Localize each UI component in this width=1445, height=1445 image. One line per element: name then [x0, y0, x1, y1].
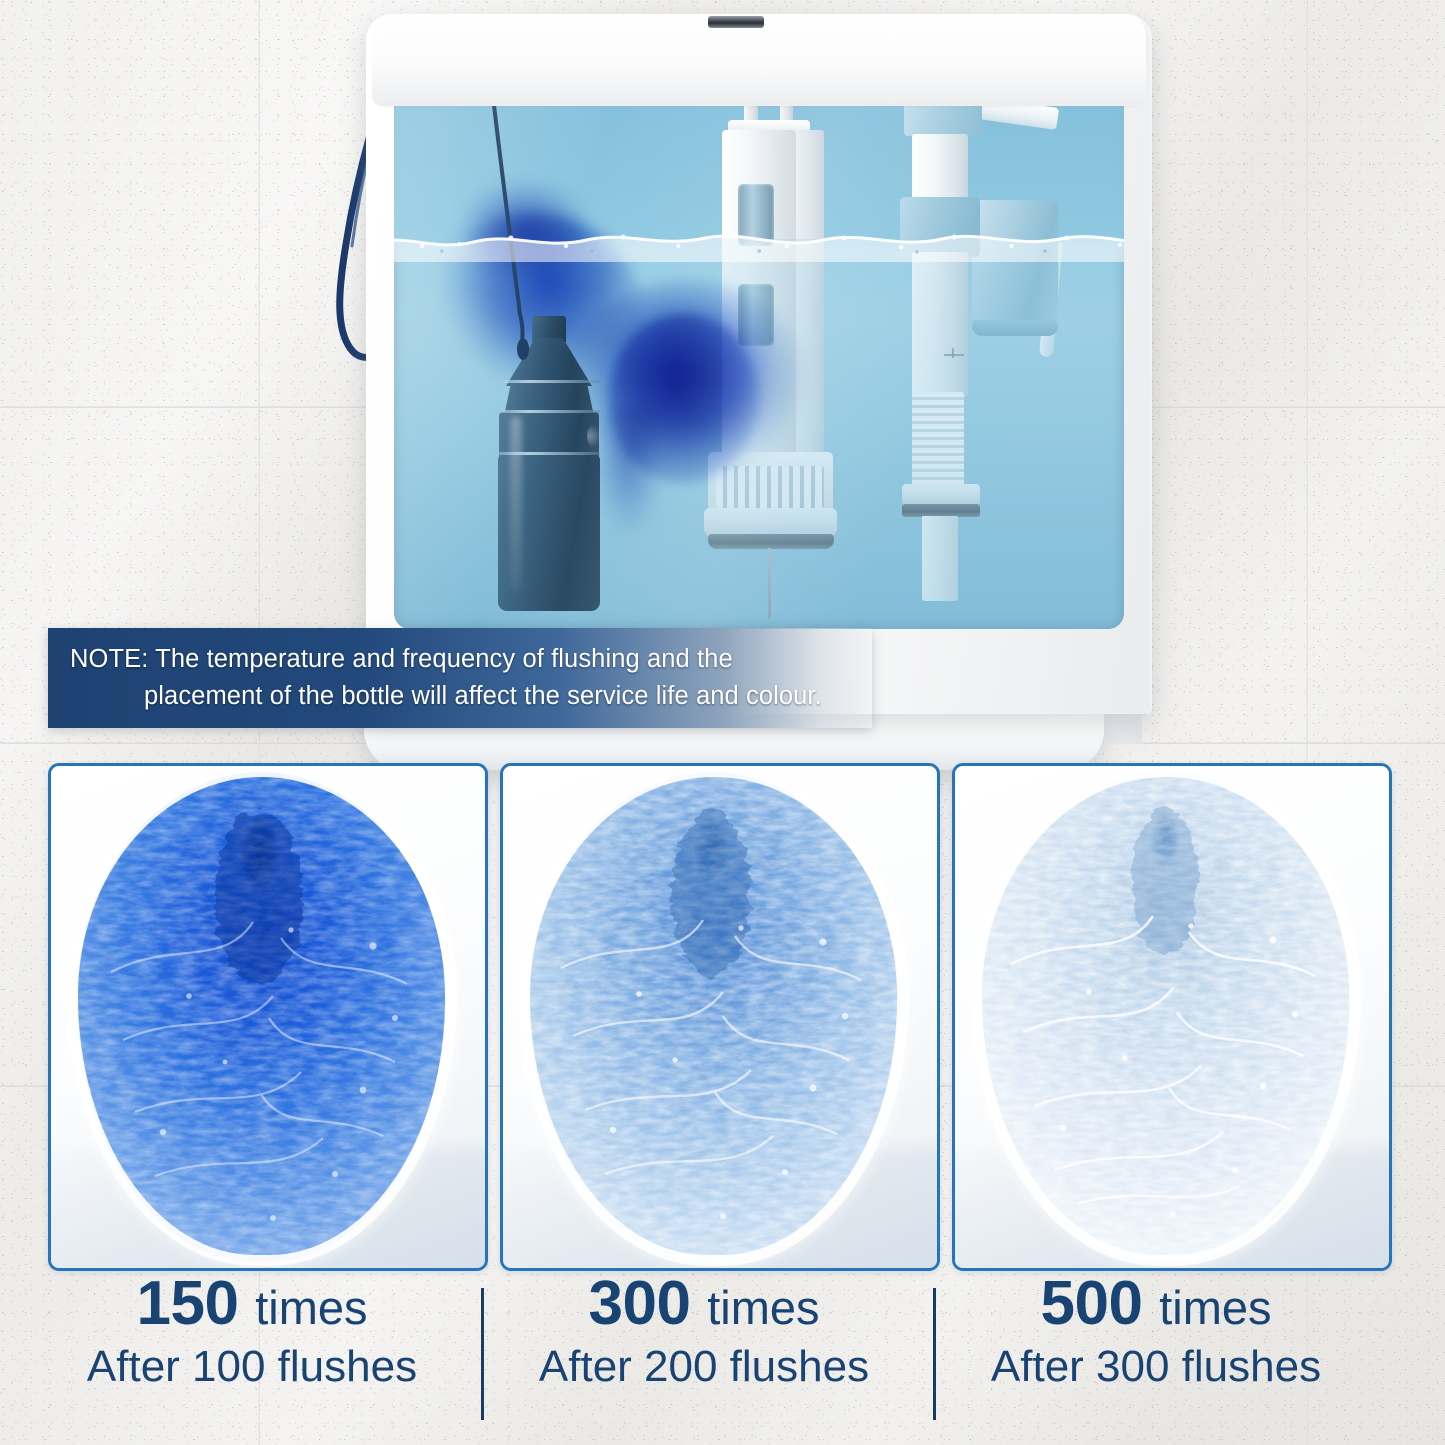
toilet-bowl-water-medium-blue — [529, 772, 897, 1262]
caption-row: 150 times After 100 flushes 300 times Af… — [0, 1272, 1445, 1445]
flush-button[interactable] — [708, 16, 764, 28]
caption-1-sub: After 100 flushes — [26, 1343, 478, 1391]
caption-3: 500 times After 300 flushes — [930, 1272, 1382, 1392]
comparison-panels — [0, 763, 1445, 1273]
caption-2: 300 times After 200 flushes — [478, 1272, 930, 1392]
caption-3-sub: After 300 flushes — [930, 1343, 1382, 1391]
caption-2-count: 300 times — [478, 1272, 930, 1335]
tank-shell — [366, 14, 1152, 714]
caption-2-unit: times — [707, 1281, 819, 1334]
tank-water-interior — [394, 64, 1124, 629]
caption-1-unit: times — [255, 1281, 367, 1334]
caption-2-sub: After 200 flushes — [478, 1343, 930, 1391]
comparison-panel-3 — [952, 763, 1392, 1271]
note-line-1: NOTE: The temperature and frequency of f… — [70, 641, 872, 678]
bottle-cord — [394, 64, 1124, 629]
caption-3-unit: times — [1159, 1281, 1271, 1334]
infographic-stage: NOTE: The temperature and frequency of f… — [0, 0, 1445, 1445]
note-banner: NOTE: The temperature and frequency of f… — [48, 628, 872, 728]
caption-3-number: 500 — [1041, 1269, 1143, 1338]
caption-1: 150 times After 100 flushes — [26, 1272, 478, 1392]
caption-2-number: 300 — [589, 1269, 691, 1338]
caption-1-count: 150 times — [26, 1272, 478, 1335]
toilet-bowl-water-pale-blue — [981, 772, 1349, 1262]
comparison-panel-2 — [500, 763, 940, 1271]
comparison-panel-1 — [48, 763, 488, 1271]
caption-3-count: 500 times — [930, 1272, 1382, 1335]
water-surface-line — [394, 222, 1124, 262]
caption-1-number: 150 — [137, 1269, 239, 1338]
toilet-bowl-water-vivid-blue — [77, 772, 445, 1262]
note-line-2: placement of the bottle will affect the … — [70, 678, 872, 715]
